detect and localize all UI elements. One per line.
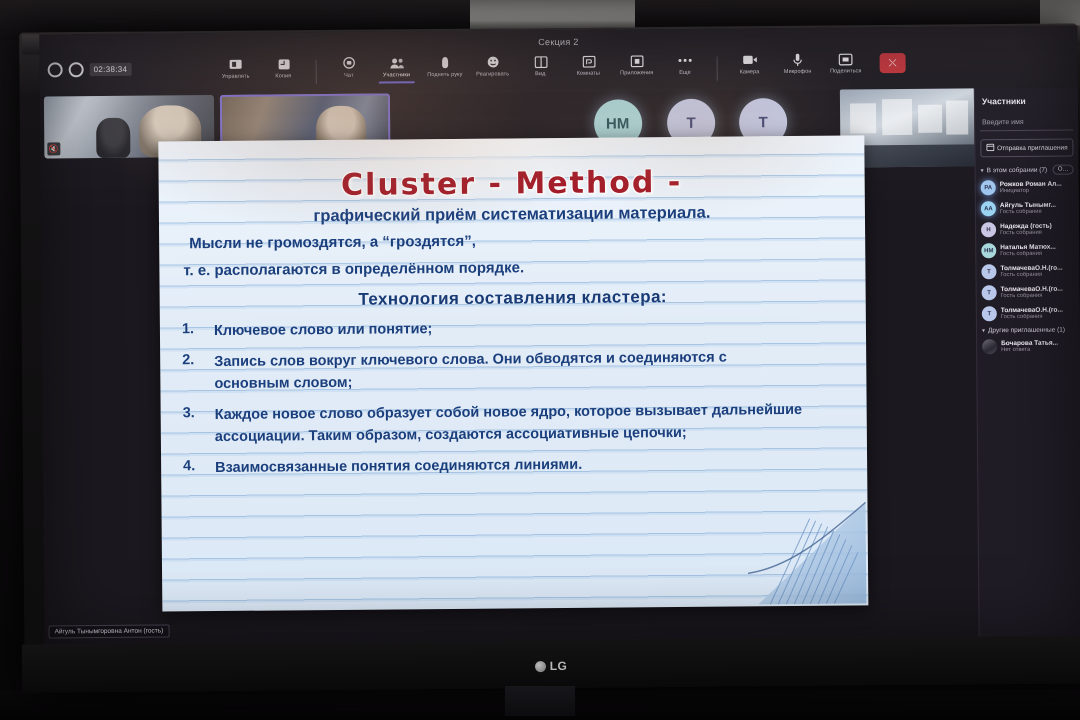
toolbar-button-rooms[interactable]: Комнаты [565,54,613,77]
toolbar-label-participants: Участники [383,73,410,79]
list-item-text: Ключевое слово или понятие; [214,319,433,342]
participant-role: Гость собрания [1000,251,1056,257]
participant-role: Инициатор [1000,188,1062,195]
send-invitation-button[interactable]: Отправка приглашения [980,139,1073,158]
mute-all-button[interactable]: О… [1053,165,1074,175]
participant-text: Айгуль Тынымг... Гость собрания [1000,202,1056,215]
participant-row[interactable]: Т ТолмачеваО.Н.(го... Гость собрания [981,264,1074,280]
raise-hand-icon [437,55,453,70]
slide-line-1: Мысли не громоздятся, а “гроздятся”, [189,230,843,253]
toolbar-label-view: Вид [536,71,546,77]
record-circle-icon [48,62,63,77]
panel-title: Участники [982,96,1073,107]
avatar: НМ [981,243,996,258]
participant-row[interactable]: Т ТолмачеваО.Н.(го... Гость собрания [982,285,1075,301]
toolbar-button-manage[interactable]: Управлять [212,57,260,80]
list-item-text: Каждое новое слово образует собой новое … [215,400,805,448]
toolbar-button-chat[interactable]: Чат [325,56,373,79]
monitor-screen: 02:38:34 Секция 2 Управлять [39,25,1080,646]
people-icon [389,55,405,70]
avatar: Т [981,264,996,279]
participant-role: Гость собрания [1000,209,1056,215]
slide-subtitle: графический приём систематизации материа… [181,203,843,228]
monitor-bottom-bezel: LG [22,635,1080,692]
section-header-in-meeting[interactable]: ▾ В этом собрании (7) О… [981,165,1074,176]
camera-icon [742,52,758,67]
toolbar-button-copy[interactable]: Копия [260,56,308,79]
list-item: 1. Ключевое слово или понятие; [182,316,844,343]
participant-row[interactable]: Бочарова Татья... Нет ответа [982,339,1075,355]
page-curl-decoration [747,500,868,606]
participant-text: ТолмачеваО.Н.(го... Гость собрания [1001,286,1063,300]
toolbar-label-microphone: Микрофон [784,69,812,75]
toolbar-label-apps: Приложения [620,70,653,76]
toolbar-group-devices: Камера Микрофон Поделиться ⤬ [726,51,906,76]
avatar: Т [982,306,997,321]
toolbar-separator-2 [717,57,718,81]
toolbar-group-left: Управлять Копия [212,56,308,80]
section-label-in-meeting: В этом собрании (7) [987,166,1048,174]
participant-text: Бочарова Татья... Нет ответа [1001,340,1058,353]
toolbar-label-copy: Копия [276,74,292,80]
participant-row[interactable]: АА Айгуль Тынымг... Гость собрания [981,201,1074,217]
participant-row[interactable]: РА Рожков Роман Ал... Инициатор [981,180,1074,196]
slide-numbered-list: 1. Ключевое слово или понятие; 2. Запись… [182,316,845,480]
participant-text: Наталья Матюх... Гость собрания [1000,244,1056,257]
present-icon [228,57,244,72]
video-conference-app: 02:38:34 Секция 2 Управлять [39,25,1080,646]
participant-role: Гость собрания [1001,293,1063,300]
reaction-icon [485,55,501,70]
toolbar-button-more[interactable]: Еще [661,53,709,76]
list-item-number: 3. [183,405,205,448]
toolbar-button-microphone[interactable]: Микрофон [774,52,822,75]
toolbar-group-main: Чат Участники Поднять руку [325,53,709,79]
shared-presentation-slide[interactable]: Cluster - Method - графический приём сис… [158,135,868,611]
toolbar-label-more: Еще [679,70,691,76]
slide-title: Cluster - Method - [181,164,843,205]
leave-meeting-button[interactable]: ⤬ [880,53,906,73]
copy-icon [276,56,292,71]
participant-row[interactable]: НМ Наталья Матюх... Гость собрания [981,243,1074,259]
toolbar-label-share: Поделиться [830,69,861,75]
participant-text: Рожков Роман Ал... Инициатор [1000,181,1062,195]
participants-panel: Участники Введите имя Отправка приглашен… [974,87,1080,638]
toolbar-button-participants[interactable]: Участники [373,55,421,78]
send-invitation-label: Отправка приглашения [997,144,1068,152]
pause-circle-icon [69,62,84,77]
list-item: 4. Взаимосвязанные понятия соединяются л… [183,453,845,480]
participant-role: Гость собрания [1001,314,1063,321]
muted-mic-icon: 🔇 [47,142,60,155]
list-item-number: 4. [183,458,205,480]
participant-row[interactable]: Н Надежда (гость) Гость собрания [981,222,1074,238]
toolbar-label-raise-hand: Поднять руку [427,72,462,78]
list-item-text: Запись слов вокруг ключевого слова. Они … [214,347,804,395]
avatar: Т [982,285,997,300]
avatar: Н [981,222,996,237]
avatar: АА [981,201,996,216]
list-item-number: 1. [182,321,204,343]
toolbar-button-react[interactable]: Реагировать [469,54,517,77]
participant-text: Надежда (гость) Гость собрания [1000,223,1052,236]
participant-text: ТолмачеваО.Н.(го... Гость собрания [1000,265,1062,279]
active-speaker-badge: Айгуль Тынымгоровна Антон (гость) [49,624,170,638]
list-item: 3. Каждое новое слово образует собой нов… [183,400,845,449]
rooms-icon [581,54,597,69]
slide-line-2: т. е. располагаются в определённом поряд… [183,257,843,280]
chevron-down-icon: ▾ [982,327,985,334]
brand-name: LG [550,659,568,673]
slide-heading-technology: Технология составления кластера: [182,286,844,312]
participant-role: Нет ответа [1001,347,1058,353]
avatar-photo [982,339,997,354]
chat-icon [341,56,357,71]
participant-role: Гость собрания [1000,272,1062,279]
chevron-down-icon: ▾ [981,167,984,174]
section-label-other-invited: Другие приглашенные (1) [988,327,1065,335]
toolbar-button-apps[interactable]: Приложения [613,53,661,76]
recording-timer: 02:38:34 [90,63,132,76]
section-header-other-invited[interactable]: ▾ Другие приглашенные (1) [982,327,1075,335]
brand-logo: LG [535,659,568,673]
participant-role: Гость собрания [1000,230,1052,236]
toolbar-label-react: Реагировать [476,72,509,78]
share-icon [838,51,854,66]
calendar-icon [986,143,994,153]
toolbar-button-share[interactable]: Поделиться [822,51,870,74]
participant-name: Рожков Роман Ал... [1000,181,1062,189]
lg-circle-icon [535,661,546,672]
participant-search-input[interactable]: Введите имя [980,115,1073,132]
list-item: 2. Запись слов вокруг ключевого слова. О… [182,347,844,396]
mic-icon [790,52,806,67]
toolbar-label-manage: Управлять [222,74,250,80]
toolbar-separator-1 [316,60,317,84]
toolbar-button-view[interactable]: Вид [517,54,565,77]
apps-icon [629,53,645,68]
participant-row[interactable]: Т ТолмачеваО.Н.(го... Гость собрания [982,306,1075,322]
recording-indicator: 02:38:34 [48,62,132,78]
layout-icon [533,54,549,69]
toolbar-label-chat: Чат [344,73,353,79]
toolbar-label-rooms: Комнаты [577,71,600,77]
slide-content: Cluster - Method - графический приём сис… [158,135,867,480]
more-icon [677,53,693,68]
monitor-stand [505,686,575,716]
photograph-of-monitor: 02:38:34 Секция 2 Управлять [0,0,1080,720]
list-item-number: 2. [182,353,204,396]
list-item-text: Взаимосвязанные понятия соединяются лини… [215,455,582,480]
toolbar-button-raise-hand[interactable]: Поднять руку [421,55,469,78]
avatar: РА [981,180,996,195]
toolbar-button-camera[interactable]: Камера [726,52,774,75]
participant-text: ТолмачеваО.Н.(го... Гость собрания [1001,307,1063,321]
toolbar-label-camera: Камера [740,69,760,75]
